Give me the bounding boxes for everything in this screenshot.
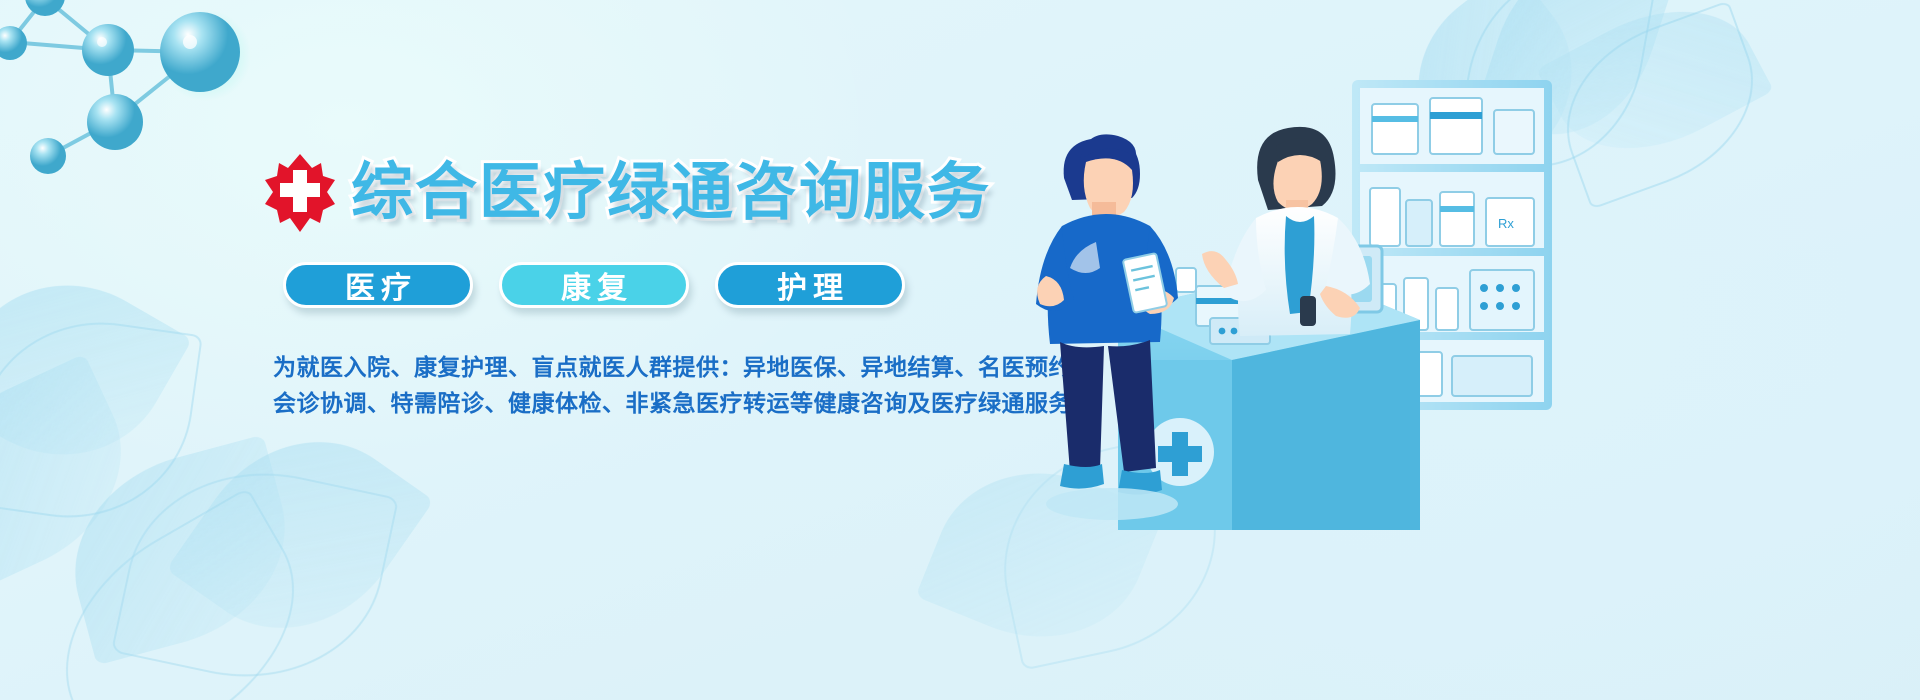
- service-tag-medical[interactable]: 医疗: [283, 262, 473, 308]
- flower-bottom-left-decoration: [30, 400, 490, 700]
- description-line-1: 为就医入院、康复护理、盲点就医人群提供：异地医保、异地结算、名医预约: [273, 350, 1003, 386]
- banner-content: 综合医疗绿通咨询服务 医疗 康复 护理 为就医入院、康复护理、盲点就医人群提供：…: [265, 150, 1005, 421]
- banner-description: 为就医入院、康复护理、盲点就医人群提供：异地医保、异地结算、名医预约 会诊协调、…: [273, 350, 1003, 421]
- service-tag-label: 医疗: [339, 263, 417, 307]
- red-cross-medical-icon: [265, 154, 335, 232]
- service-tag-nursing[interactable]: 护理: [715, 262, 905, 308]
- service-tag-label: 康复: [555, 263, 633, 307]
- service-tag-label: 护理: [771, 263, 849, 307]
- service-tag-rehabilitation[interactable]: 康复: [499, 262, 689, 308]
- page-title: 综合医疗绿通咨询服务: [351, 162, 991, 224]
- description-line-2: 会诊协调、特需陪诊、健康体检、非紧急医疗转运等健康咨询及医疗绿通服务。: [273, 386, 1003, 422]
- flower-left-decoration: [0, 260, 290, 620]
- title-row: 综合医疗绿通咨询服务: [265, 150, 1005, 236]
- pharmacy-counter-scene: Rx: [1000, 60, 1560, 580]
- svg-text:Rx: Rx: [1498, 216, 1514, 231]
- medical-service-banner: 综合医疗绿通咨询服务 医疗 康复 护理 为就医入院、康复护理、盲点就医人群提供：…: [0, 0, 1920, 700]
- service-tag-list: 医疗 康复 护理: [283, 262, 1005, 308]
